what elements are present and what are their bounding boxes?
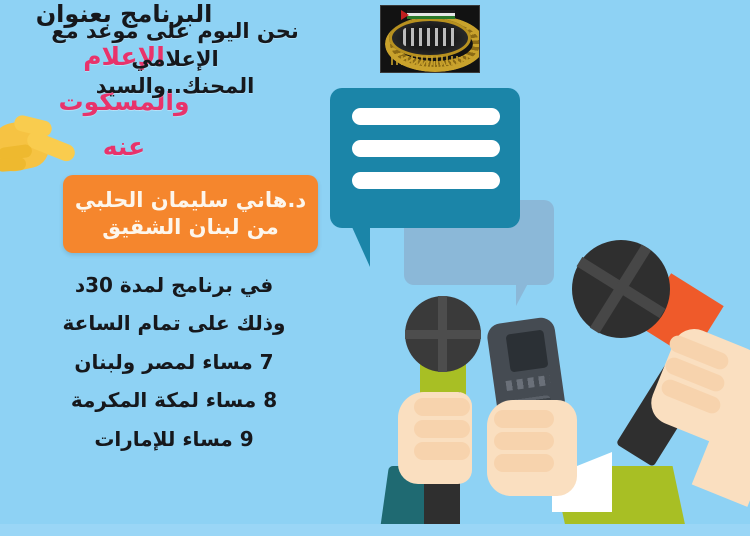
finger-4 [494, 410, 554, 428]
guest-name-badge: د.هاني سليمان الحلبي من لبنان الشقيق [63, 175, 318, 253]
channel-emblem-icon [380, 5, 480, 73]
speech-bubble-secondary-tail [516, 272, 534, 306]
emblem-caption-text [391, 56, 469, 65]
schedule-line-2: وذلك على تمام الساعة [18, 310, 330, 336]
left-headline: نحن اليوم على موعد مع الإعلامي المحنك..و… [20, 18, 330, 101]
schedule-line-5: 9 مساء للإمارات [18, 426, 330, 452]
bottom-band [0, 524, 750, 536]
speech-bubble-line-1 [352, 108, 500, 125]
finger-2 [414, 420, 470, 438]
finger-6 [494, 454, 554, 472]
poster-canvas: نحن اليوم على موعد مع الإعلامي المحنك..و… [0, 0, 750, 536]
left-headline-line-3: المحنك..والسيد [20, 73, 330, 101]
recorder-screen [506, 330, 549, 373]
left-headline-line-2: الإعلامي [20, 46, 330, 74]
speech-bubble-line-3 [352, 172, 500, 189]
left-headline-line-1: نحن اليوم على موعد مع [20, 18, 330, 46]
schedule-line-1: في برنامج لمدة 30د [18, 272, 330, 298]
schedule-block: في برنامج لمدة 30د وذلك على تمام الساعة … [18, 272, 330, 464]
finger-5 [494, 432, 554, 450]
speech-bubble-primary-tail [352, 227, 370, 267]
emblem-flag-chevron [401, 10, 409, 20]
speech-bubble-line-2 [352, 140, 500, 157]
finger-1 [414, 398, 470, 416]
schedule-line-4: 8 مساء لمكة المكرمة [18, 387, 330, 413]
guest-name: د.هاني سليمان الحلبي [75, 187, 306, 214]
schedule-line-3: 7 مساء لمصر ولبنان [18, 349, 330, 375]
microphone-olive-head-seam-v [438, 296, 447, 372]
emblem-figures [403, 28, 457, 46]
guest-name-badge-text: د.هاني سليمان الحلبي من لبنان الشقيق [63, 175, 318, 253]
emblem-flag [407, 10, 455, 19]
guest-origin: من لبنان الشقيق [102, 214, 278, 241]
finger-3 [414, 442, 470, 460]
